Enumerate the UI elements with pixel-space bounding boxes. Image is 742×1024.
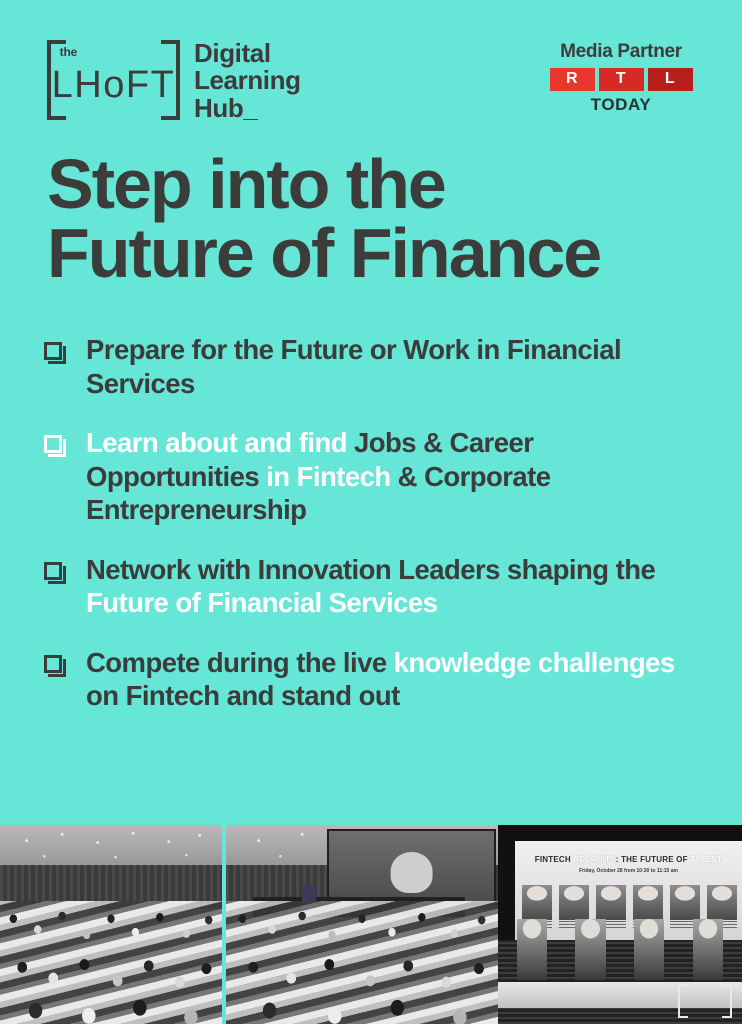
- slide-title-part-4: TALENT: [690, 855, 722, 864]
- panelist: [575, 919, 605, 980]
- slide-title: FINTECH RECRUITS: THE FUTURE OF TALENT: [515, 855, 742, 864]
- panelists: [503, 913, 737, 981]
- headline-line-1: Step into the: [47, 150, 697, 219]
- benefits-list: Prepare for the Future or Work in Financ…: [44, 333, 704, 739]
- bullet-3-seg-0: Compete during the live: [86, 647, 394, 678]
- photo-panel-discussion: FINTECH RECRUITS: THE FUTURE OF TALENT F…: [498, 825, 742, 1024]
- bullet-3-seg-1: knowledge challenges: [394, 647, 675, 678]
- photo-auditorium-screen: [226, 825, 498, 1024]
- media-partner-label: Media Partner: [546, 42, 696, 63]
- checkbox-square-icon: [44, 562, 66, 584]
- crowd: [226, 889, 498, 1024]
- rtl-logo: R T L: [546, 68, 696, 91]
- slide-title-part-3: : THE FUTURE OF: [616, 855, 690, 864]
- poster-header: the LHoFT Digital Learning Hub_ Media Pa…: [0, 36, 742, 132]
- rtl-letter-r: R: [550, 68, 595, 91]
- list-item: Compete during the live knowledge challe…: [44, 646, 704, 713]
- headline-line-2: Future of Finance: [47, 219, 697, 288]
- dlh-line-1: Digital: [194, 40, 301, 67]
- rtl-letter-l: L: [648, 68, 693, 91]
- rtl-letter-t: T: [599, 68, 644, 91]
- slide-title-part-2: RECRUITS: [573, 855, 616, 864]
- checkbox-square-icon: [44, 655, 66, 677]
- list-item-text: Compete during the live knowledge challe…: [86, 646, 704, 713]
- bullet-1-seg-0: Learn about and find: [86, 427, 354, 458]
- lhoft-bracket-watermark-icon: [678, 984, 732, 1014]
- panelist: [693, 919, 723, 980]
- speaker-on-screen: [390, 852, 433, 892]
- digital-learning-hub-title: Digital Learning Hub_: [194, 40, 301, 122]
- list-item: Network with Innovation Leaders shaping …: [44, 553, 704, 620]
- bullet-2-seg-1: Future of Financial Services: [86, 587, 437, 618]
- media-partner-block: Media Partner R T L TODAY: [546, 42, 696, 115]
- panelist: [517, 919, 547, 980]
- slide-subtitle: Friday, October 28 from 10:30 to 11:15 a…: [515, 868, 742, 874]
- lhoft-logo: the LHoFT Digital Learning Hub_: [47, 40, 301, 122]
- bullet-0-seg-0: Prepare for the Future or Work in Financ…: [86, 334, 621, 399]
- dlh-line-2: Learning: [194, 67, 301, 94]
- list-item-text: Learn about and find Jobs & Career Oppor…: [86, 426, 704, 527]
- lhoft-wordmark: LHoFT: [52, 66, 176, 104]
- photo-strip: FINTECH RECRUITS: THE FUTURE OF TALENT F…: [0, 825, 742, 1024]
- checkbox-square-icon: [44, 342, 66, 364]
- list-item-text: Prepare for the Future or Work in Financ…: [86, 333, 704, 400]
- bullet-1-seg-2: in Fintech: [266, 461, 397, 492]
- bullet-2-seg-0: Network with Innovation Leaders shaping …: [86, 554, 655, 585]
- slide-title-part-1: FINTECH: [535, 855, 574, 864]
- rtl-today-label: TODAY: [546, 95, 696, 115]
- crowd: [0, 889, 222, 1024]
- panelist: [634, 919, 664, 980]
- checkbox-square-icon: [44, 435, 66, 457]
- page-title: Step into the Future of Finance: [47, 150, 697, 287]
- bullet-3-seg-2: on Fintech and stand out: [86, 680, 400, 711]
- photo-audience: [0, 825, 222, 1024]
- lhoft-the-label: the: [60, 46, 77, 58]
- dlh-line-3: Hub_: [194, 95, 301, 122]
- list-item: Learn about and find Jobs & Career Oppor…: [44, 426, 704, 527]
- list-item-text: Network with Innovation Leaders shaping …: [86, 553, 704, 620]
- list-item: Prepare for the Future or Work in Financ…: [44, 333, 704, 400]
- lhoft-bracket-mark: the LHoFT: [47, 40, 180, 112]
